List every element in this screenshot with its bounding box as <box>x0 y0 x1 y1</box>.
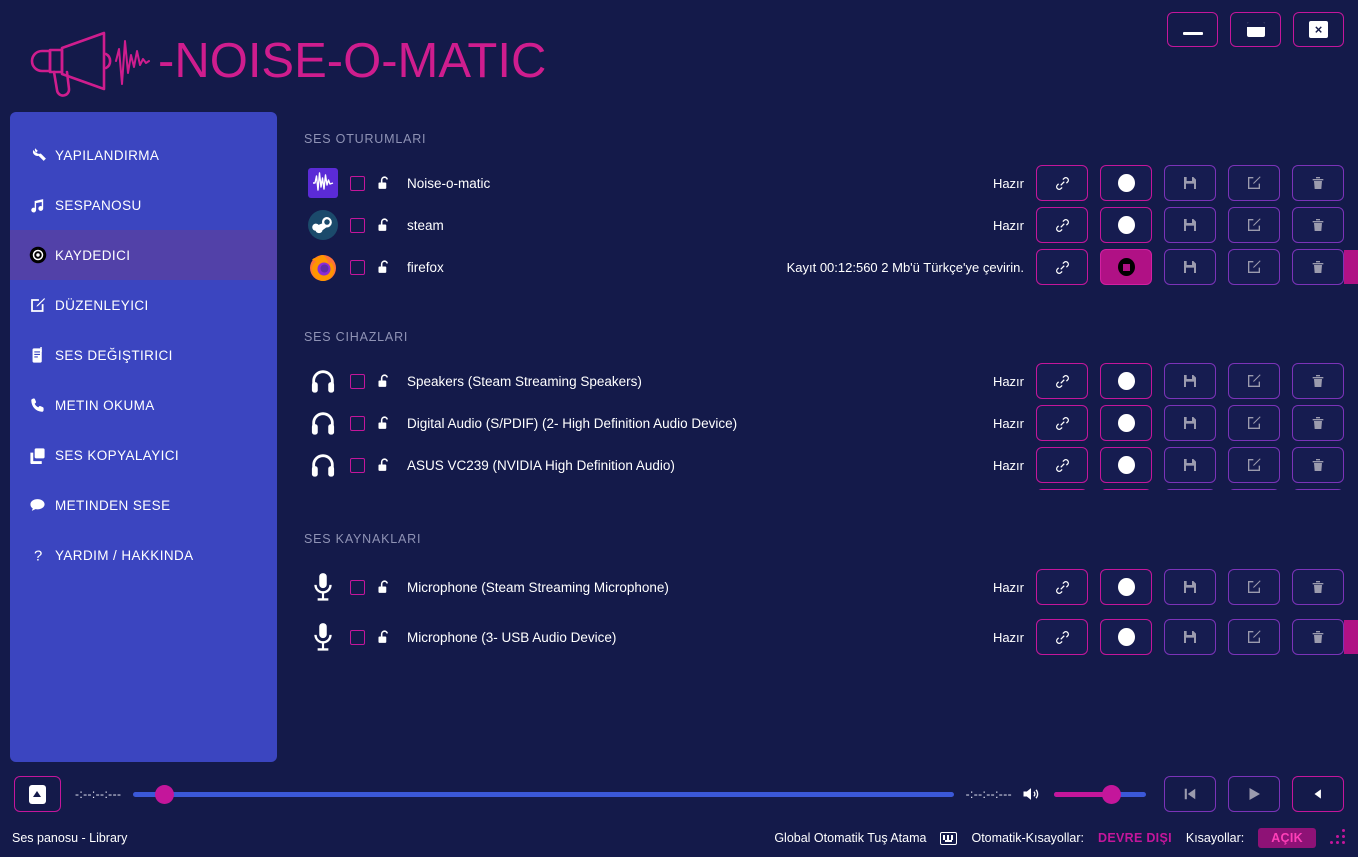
sidebar-item-label: SES DEĞIŞTIRICI <box>55 348 173 363</box>
link-button[interactable] <box>1036 249 1088 285</box>
record-button[interactable] <box>1100 489 1152 490</box>
sidebar-item-metinden-sese[interactable]: METINDEN SESE <box>10 480 277 530</box>
sidebar-item-label: DÜZENLEYICI <box>55 298 149 313</box>
edit-button[interactable] <box>1228 405 1280 441</box>
row-label: Digital Audio (S/PDIF) (2- High Definiti… <box>407 416 737 431</box>
voice-changer-icon <box>29 347 55 364</box>
floppy-disk-icon <box>1182 217 1198 233</box>
row-label: Noise-o-matic <box>407 176 490 191</box>
trash-icon <box>1310 415 1326 431</box>
resize-grip-icon[interactable] <box>1330 829 1348 847</box>
row-actions <box>1036 569 1344 605</box>
row-actions <box>1036 405 1344 441</box>
record-dot-icon <box>1118 174 1135 192</box>
time-total: -:--:--:--- <box>966 787 1012 801</box>
back-button[interactable] <box>1292 776 1344 812</box>
auto-hotkeys-label: Otomatik-Kısayollar: <box>971 831 1084 845</box>
source-rows: Microphone (Steam Streaming Microphone) … <box>304 562 1344 662</box>
table-row: steam Hazır <box>304 204 1344 246</box>
record-button[interactable] <box>1100 619 1152 655</box>
chat-bubble-icon <box>29 497 55 514</box>
maximize-button[interactable] <box>1230 12 1281 47</box>
volume-handle[interactable] <box>1102 785 1121 804</box>
pencil-square-icon <box>1246 579 1262 595</box>
pencil-square-icon <box>1246 217 1262 233</box>
floppy-disk-icon <box>1182 579 1198 595</box>
device-rows: Speakers (Steam Streaming Speakers) Hazı… <box>304 360 1344 490</box>
record-button[interactable] <box>1100 569 1152 605</box>
link-icon <box>1054 259 1071 276</box>
copy-icon <box>29 447 55 464</box>
edit-button[interactable] <box>1228 363 1280 399</box>
floppy-disk-icon <box>1182 415 1198 431</box>
save-button[interactable] <box>1164 447 1216 483</box>
floppy-disk-icon <box>1182 373 1198 389</box>
row-checkbox[interactable] <box>350 260 365 275</box>
pencil-square-icon <box>1246 629 1262 645</box>
row-checkbox[interactable] <box>350 218 365 233</box>
unlock-icon[interactable] <box>372 629 396 646</box>
record-dot-icon <box>1118 578 1135 596</box>
unlock-icon[interactable] <box>372 175 396 192</box>
unlock-icon[interactable] <box>372 259 396 276</box>
row-checkbox[interactable] <box>350 630 365 645</box>
wrench-icon <box>29 147 55 164</box>
volume-slider[interactable] <box>1054 784 1146 804</box>
sidebar-item-yardim-hakkinda[interactable]: ? YARDIM / HAKKINDA <box>10 530 277 580</box>
minimize-button[interactable] <box>1167 12 1218 47</box>
link-button[interactable] <box>1036 619 1088 655</box>
table-row: firefox Kayıt 00:12:560 2 Mb'ü Türkçe'ye… <box>304 246 1344 288</box>
unlock-icon[interactable] <box>372 457 396 474</box>
row-checkbox[interactable] <box>350 580 365 595</box>
noise-o-matic-app-icon <box>304 166 342 200</box>
sidebar-item-label: METINDEN SESE <box>55 498 170 513</box>
trash-icon <box>1310 175 1326 191</box>
save-button[interactable] <box>1164 489 1216 490</box>
window-controls: × <box>1167 12 1344 47</box>
hotkeys-label: Kısayollar: <box>1186 831 1244 845</box>
delete-button[interactable] <box>1292 447 1344 483</box>
save-button[interactable] <box>1164 363 1216 399</box>
record-button[interactable] <box>1100 363 1152 399</box>
section-title: SES CIHAZLARI <box>304 330 1344 344</box>
sidebar-item-kaydedici[interactable]: KAYDEDICI <box>10 230 277 280</box>
row-checkbox[interactable] <box>350 416 365 431</box>
section-title: SES OTURUMLARI <box>304 132 1344 146</box>
link-icon <box>1054 373 1071 390</box>
sidebar-item-metin-okuma[interactable]: METIN OKUMA <box>10 380 277 430</box>
delete-button[interactable] <box>1292 489 1344 490</box>
eject-icon <box>29 785 46 804</box>
app-title: -NOISE-O-MATIC <box>158 37 546 86</box>
record-dot-icon <box>1118 628 1135 646</box>
pencil-square-icon <box>1246 175 1262 191</box>
floppy-disk-icon <box>1182 629 1198 645</box>
table-row: Noise-o-matic Hazır <box>304 162 1344 204</box>
link-icon <box>1054 415 1071 432</box>
edit-button[interactable] <box>1228 569 1280 605</box>
floppy-disk-icon <box>1182 457 1198 473</box>
status-bar-right: Global Otomatik Tuş Atama Otomatik-Kısay… <box>774 828 1358 848</box>
skip-back-button[interactable] <box>1164 776 1216 812</box>
edit-button[interactable] <box>1228 165 1280 201</box>
row-status: Kayıt 00:12:560 2 Mb'ü Türkçe'ye çevirin… <box>787 260 1036 275</box>
microphone-icon <box>304 620 342 654</box>
close-button[interactable]: × <box>1293 12 1344 47</box>
record-button[interactable] <box>1100 165 1152 201</box>
record-dot-icon <box>1118 216 1135 234</box>
table-row-partial <box>304 486 1344 490</box>
section-ses-cihazlari: SES CIHAZLARI Speakers (Steam Streaming … <box>304 330 1344 490</box>
record-button-active[interactable] <box>1100 249 1152 285</box>
link-button[interactable] <box>1036 569 1088 605</box>
link-button[interactable] <box>1036 489 1088 490</box>
headphones-icon <box>304 364 342 398</box>
section-title: SES KAYNAKLARI <box>304 532 1344 546</box>
auto-hotkeys-value[interactable]: DEVRE DIŞI <box>1098 831 1172 845</box>
sidebar-item-duzenleyici[interactable]: DÜZENLEYICI <box>10 280 277 330</box>
row-status: Hazır <box>993 458 1036 473</box>
session-rows: Noise-o-matic Hazır steam Hazır <box>304 162 1344 288</box>
floppy-disk-icon <box>1182 175 1198 191</box>
row-label: Microphone (Steam Streaming Microphone) <box>407 580 669 595</box>
save-button[interactable] <box>1164 207 1216 243</box>
delete-button[interactable] <box>1292 619 1344 655</box>
link-button[interactable] <box>1036 405 1088 441</box>
row-actions <box>1036 619 1344 655</box>
sidebar-item-label: KAYDEDICI <box>55 248 130 263</box>
record-dot-icon <box>1118 372 1135 390</box>
row-actions <box>1036 165 1344 201</box>
link-icon <box>1054 175 1071 192</box>
sidebar-item-yapilandirma[interactable]: YAPILANDIRMA <box>10 130 277 180</box>
link-icon <box>1054 457 1071 474</box>
sidebar-item-label: SES KOPYALAYICI <box>55 448 179 463</box>
pencil-square-icon <box>1246 259 1262 275</box>
trash-icon <box>1310 217 1326 233</box>
edit-button[interactable] <box>1228 447 1280 483</box>
waveform-meter <box>1344 620 1358 654</box>
record-dot-icon <box>1118 414 1135 432</box>
headphones-icon <box>304 406 342 440</box>
save-button[interactable] <box>1164 569 1216 605</box>
section-ses-kaynaklari: SES KAYNAKLARI Microphone (Steam Streami… <box>304 532 1344 662</box>
row-label: firefox <box>407 260 444 275</box>
row-status: Hazır <box>993 416 1036 431</box>
waveform-meter <box>1344 250 1358 284</box>
question-icon: ? <box>29 546 55 565</box>
stop-icon <box>1118 258 1135 276</box>
svg-text:?: ? <box>34 548 43 564</box>
unlock-icon[interactable] <box>372 579 396 596</box>
link-icon <box>1054 579 1071 596</box>
trash-icon <box>1310 457 1326 473</box>
delete-button[interactable] <box>1292 363 1344 399</box>
table-row: Microphone (3- USB Audio Device) Hazır <box>304 612 1344 662</box>
floppy-disk-icon <box>1182 259 1198 275</box>
sidebar-item-label: METIN OKUMA <box>55 398 155 413</box>
record-button[interactable] <box>1100 207 1152 243</box>
save-button[interactable] <box>1164 405 1216 441</box>
app-logo: -NOISE-O-MATIC <box>20 16 546 106</box>
save-button[interactable] <box>1164 619 1216 655</box>
row-status: Hazır <box>993 374 1036 389</box>
edit-button[interactable] <box>1228 489 1280 490</box>
unlock-icon[interactable] <box>372 217 396 234</box>
record-icon <box>29 246 55 264</box>
row-actions <box>1036 489 1344 490</box>
row-status: Hazır <box>993 630 1036 645</box>
firefox-app-icon <box>304 250 342 284</box>
row-label: ASUS VC239 (NVIDIA High Definition Audio… <box>407 458 675 473</box>
row-label: Microphone (3- USB Audio Device) <box>407 630 616 645</box>
hotkeys-value[interactable]: AÇIK <box>1258 828 1316 848</box>
sidebar: YAPILANDIRMA SESPANOSU KAYDEDICI DÜZENLE… <box>10 112 277 762</box>
row-label: steam <box>407 218 444 233</box>
table-row: Digital Audio (S/PDIF) (2- High Definiti… <box>304 402 1344 444</box>
pencil-square-icon <box>1246 457 1262 473</box>
delete-button[interactable] <box>1292 405 1344 441</box>
time-current: -:--:--:--- <box>75 787 121 801</box>
row-label: Speakers (Steam Streaming Speakers) <box>407 374 642 389</box>
global-hotkeys-label: Global Otomatik Tuş Atama <box>774 831 926 845</box>
status-bar: Ses panosu - Library Global Otomatik Tuş… <box>0 819 1358 857</box>
table-row: Microphone (Steam Streaming Microphone) … <box>304 562 1344 612</box>
unlock-icon[interactable] <box>372 415 396 432</box>
sidebar-item-label: SESPANOSU <box>55 198 142 213</box>
record-button[interactable] <box>1100 405 1152 441</box>
row-status: Hazır <box>993 580 1036 595</box>
row-actions <box>1036 447 1344 483</box>
save-button[interactable] <box>1164 249 1216 285</box>
record-button[interactable] <box>1100 447 1152 483</box>
seek-slider[interactable] <box>133 784 953 804</box>
delete-button[interactable] <box>1292 569 1344 605</box>
sidebar-item-sespanosu[interactable]: SESPANOSU <box>10 180 277 230</box>
link-icon <box>1054 217 1071 234</box>
row-status: Hazır <box>993 218 1036 233</box>
minimize-icon <box>1183 32 1203 35</box>
link-button[interactable] <box>1036 363 1088 399</box>
row-actions <box>1036 363 1344 399</box>
delete-button[interactable] <box>1292 165 1344 201</box>
megaphone-waveform-icon <box>20 21 160 101</box>
close-icon: × <box>1309 21 1328 38</box>
row-checkbox[interactable] <box>350 176 365 191</box>
record-dot-icon <box>1118 456 1135 474</box>
pencil-square-icon <box>1246 373 1262 389</box>
seek-track[interactable] <box>133 792 953 797</box>
main-content: SES OTURUMLARI Noise-o-matic Hazır <box>304 132 1344 662</box>
row-checkbox[interactable] <box>350 374 365 389</box>
delete-button[interactable] <box>1292 249 1344 285</box>
play-button[interactable] <box>1228 776 1280 812</box>
sidebar-item-label: YAPILANDIRMA <box>55 148 159 163</box>
skip-back-icon <box>1181 785 1199 803</box>
link-icon <box>1054 629 1071 646</box>
volume-icon[interactable] <box>1020 784 1042 804</box>
soundboard-status: Ses panosu - Library <box>12 831 127 845</box>
sidebar-item-ses-kopyalayici[interactable]: SES KOPYALAYICI <box>10 430 277 480</box>
steam-app-icon <box>304 208 342 242</box>
seek-handle[interactable] <box>155 785 174 804</box>
link-button[interactable] <box>1036 207 1088 243</box>
microphone-icon <box>304 570 342 604</box>
trash-icon <box>1310 629 1326 645</box>
edit-icon <box>29 297 55 314</box>
back-arrow-icon <box>1311 787 1325 801</box>
unlock-icon[interactable] <box>372 373 396 390</box>
trash-icon <box>1310 373 1326 389</box>
trash-icon <box>1310 579 1326 595</box>
link-button[interactable] <box>1036 447 1088 483</box>
phone-icon <box>29 397 55 414</box>
row-status: Hazır <box>993 176 1036 191</box>
edit-button[interactable] <box>1228 249 1280 285</box>
section-ses-oturumlari: SES OTURUMLARI Noise-o-matic Hazır <box>304 132 1344 288</box>
edit-button[interactable] <box>1228 207 1280 243</box>
table-row: ASUS VC239 (NVIDIA High Definition Audio… <box>304 444 1344 486</box>
transport-bar: -:--:--:--- -:--:--:--- <box>0 769 1358 819</box>
maximize-icon <box>1247 22 1265 37</box>
row-checkbox[interactable] <box>350 458 365 473</box>
trash-icon <box>1310 259 1326 275</box>
play-icon <box>1245 785 1263 803</box>
keyboard-icon[interactable] <box>940 832 957 845</box>
edit-button[interactable] <box>1228 619 1280 655</box>
link-button[interactable] <box>1036 165 1088 201</box>
row-actions <box>1036 207 1344 243</box>
sidebar-item-label: YARDIM / HAKKINDA <box>55 548 194 563</box>
table-row: Speakers (Steam Streaming Speakers) Hazı… <box>304 360 1344 402</box>
delete-button[interactable] <box>1292 207 1344 243</box>
headphones-icon <box>304 448 342 482</box>
eject-button[interactable] <box>14 776 61 812</box>
music-note-icon <box>29 197 55 214</box>
row-actions <box>1036 249 1344 285</box>
sidebar-item-ses-degistirici[interactable]: SES DEĞIŞTIRICI <box>10 330 277 380</box>
save-button[interactable] <box>1164 165 1216 201</box>
pencil-square-icon <box>1246 415 1262 431</box>
